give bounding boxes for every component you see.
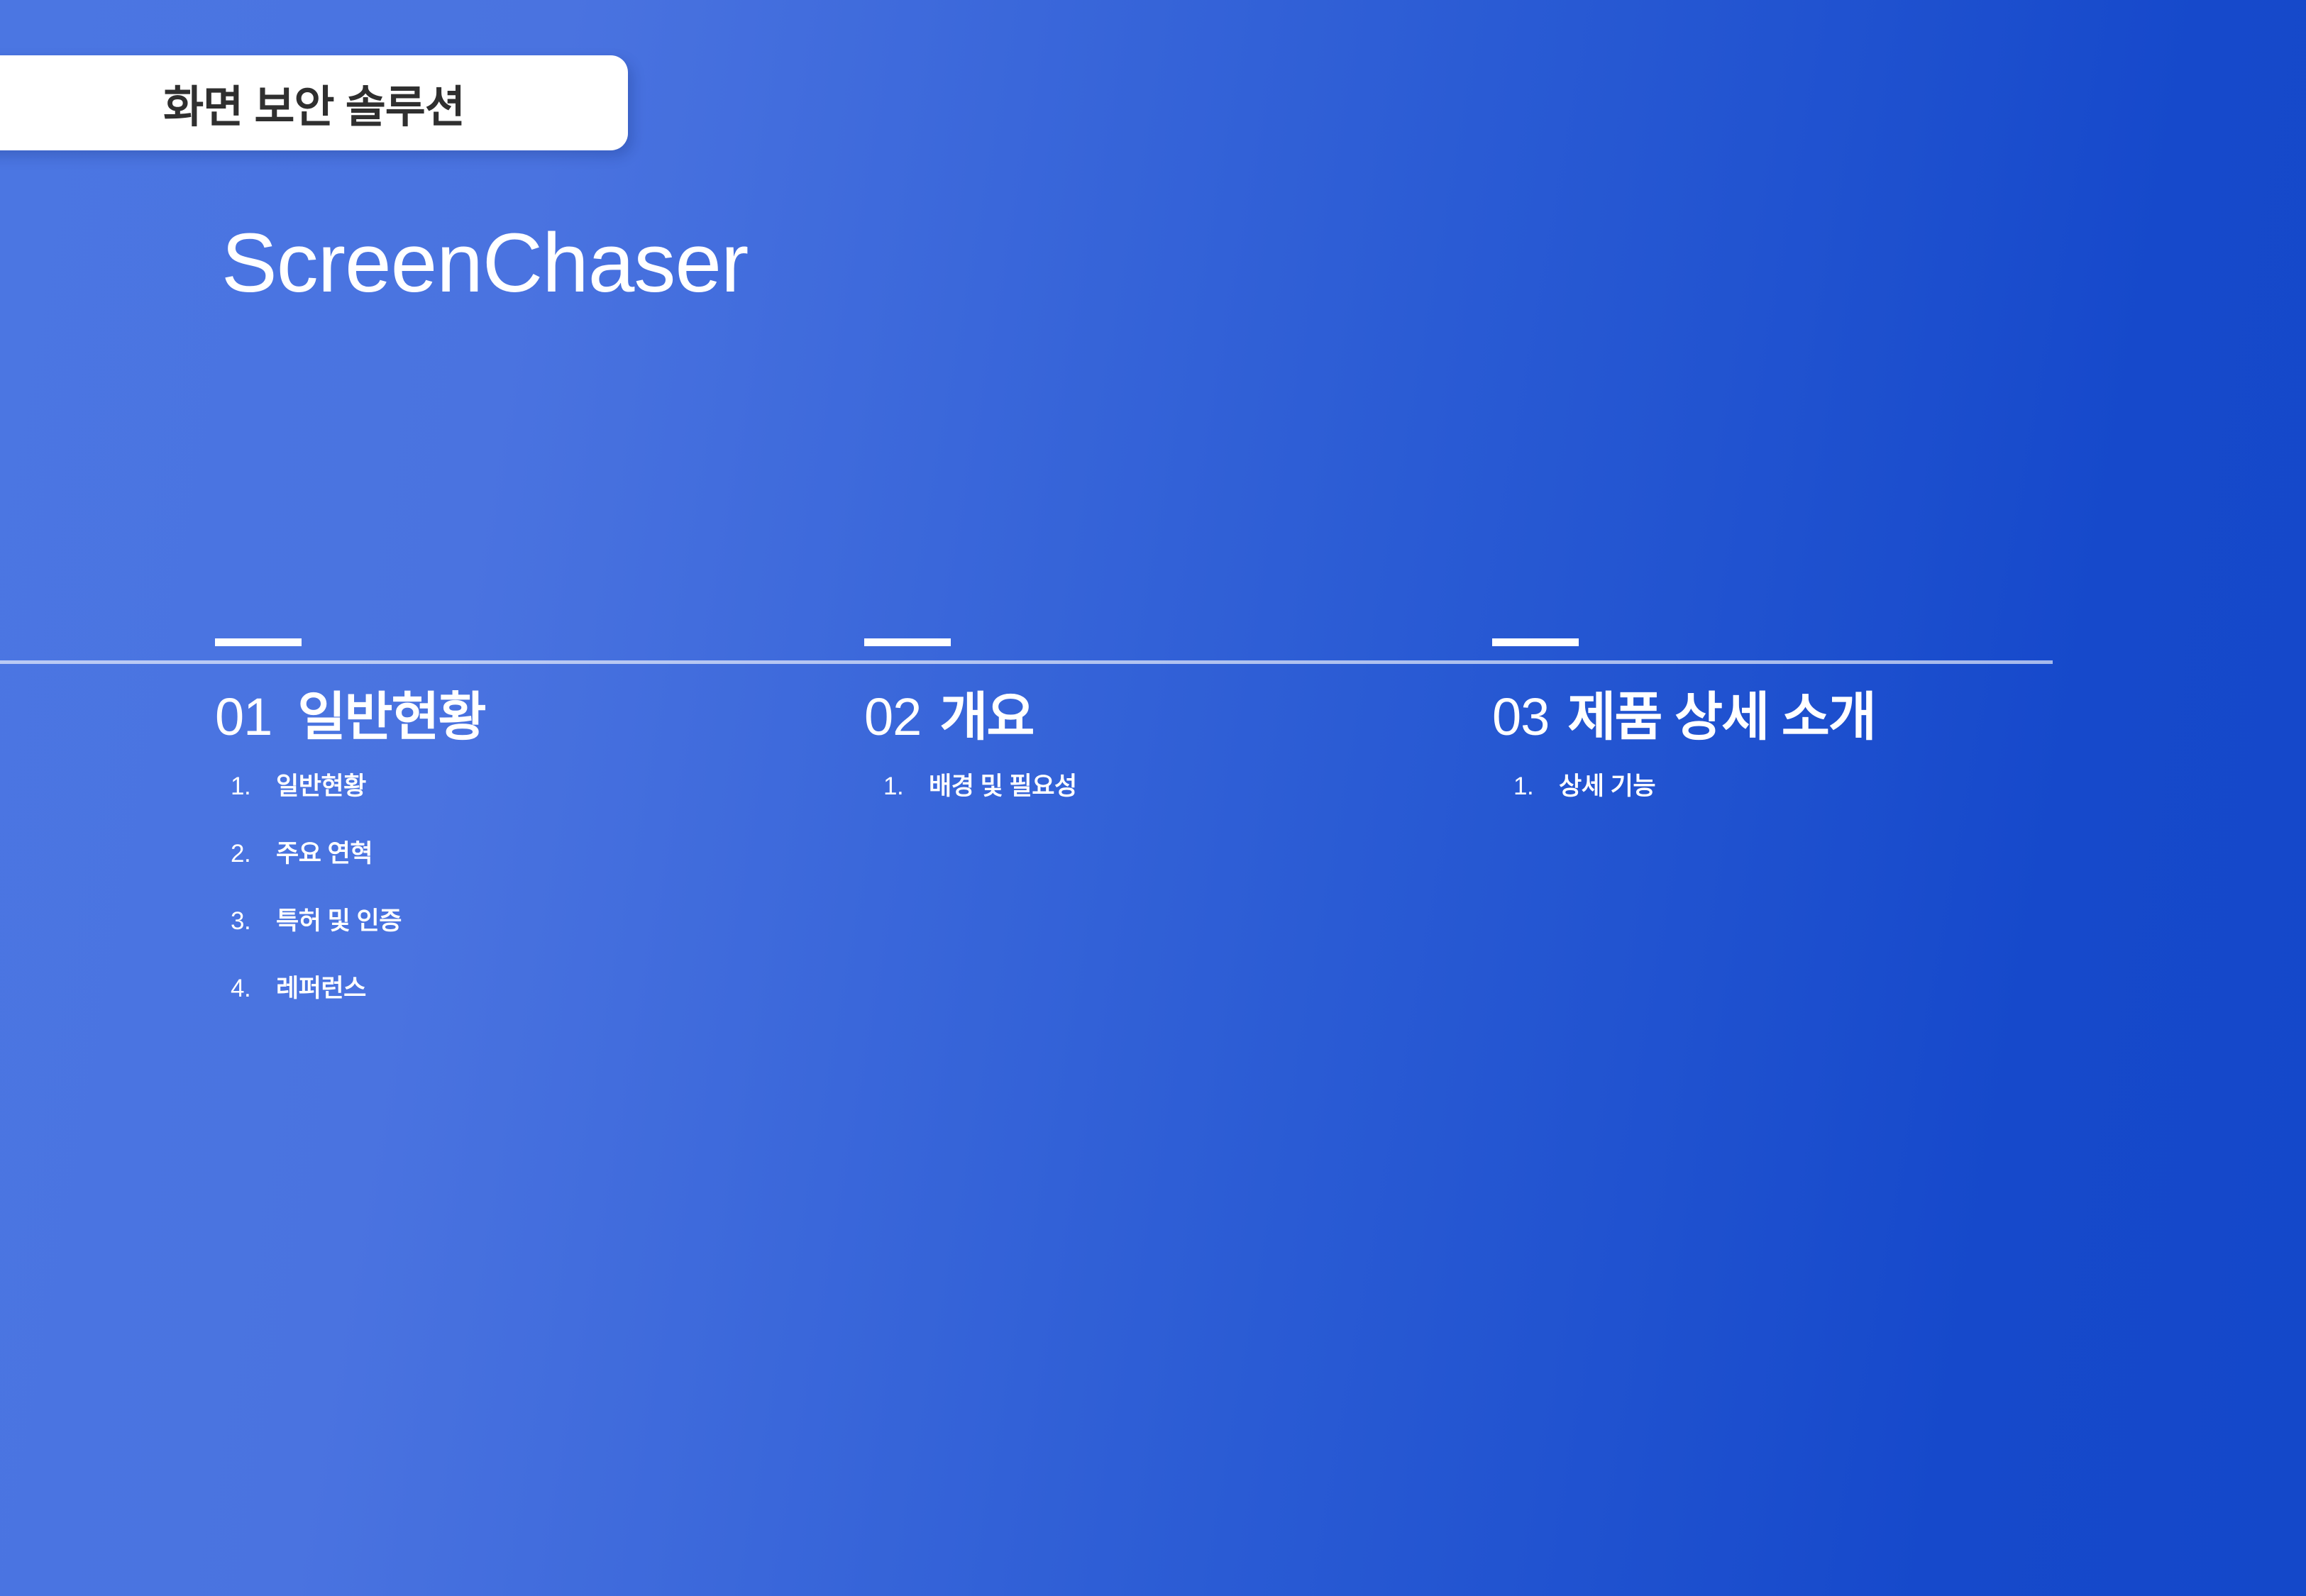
list-item-index: 4.	[231, 975, 276, 1003]
agenda-column-01-title: 일반현황	[297, 675, 485, 750]
agenda-column-03-header: 03 제품 상세 소개	[1492, 675, 1875, 750]
tick-marker-icon	[1492, 638, 1579, 646]
list-item[interactable]: 3. 특허 및 인증	[231, 901, 485, 937]
agenda-column-03: 03 제품 상세 소개 1. 상세 기능	[1492, 638, 1875, 833]
list-item[interactable]: 1. 상세 기능	[1513, 766, 1875, 802]
list-item-label: 상세 기능	[1559, 766, 1655, 802]
page-title: ScreenChaser	[221, 218, 748, 310]
agenda-column-03-list: 1. 상세 기능	[1492, 766, 1875, 802]
category-badge-label: 화면 보안 솔루션	[163, 71, 465, 135]
agenda-column-01-header: 01 일반현황	[215, 675, 485, 750]
tick-marker-icon	[864, 638, 951, 646]
agenda-column-02-list: 1. 배경 및 필요성	[864, 766, 1077, 802]
agenda-column-02-header: 02 개요	[864, 675, 1077, 750]
list-item-index: 1.	[883, 772, 929, 801]
tick-marker-icon	[215, 638, 302, 646]
list-item-index: 1.	[231, 772, 276, 801]
list-item[interactable]: 1. 배경 및 필요성	[883, 766, 1077, 802]
agenda-column-01: 01 일반현황 1. 일반현황 2. 주요 연혁 3. 특허 및 인증 4.	[215, 638, 485, 1036]
list-item-label: 일반현황	[276, 766, 366, 802]
agenda-column-03-title: 제품 상세 소개	[1567, 675, 1875, 750]
list-item-label: 레퍼런스	[276, 968, 366, 1004]
agenda-column-02: 02 개요 1. 배경 및 필요성	[864, 638, 1077, 833]
list-item-label: 주요 연혁	[276, 833, 373, 870]
list-item-index: 1.	[1513, 772, 1559, 801]
list-item[interactable]: 2. 주요 연혁	[231, 833, 485, 870]
list-item-index: 2.	[231, 840, 276, 868]
agenda-section: 01 일반현황 1. 일반현황 2. 주요 연혁 3. 특허 및 인증 4.	[0, 638, 2306, 1135]
agenda-column-02-number: 02	[864, 687, 921, 747]
presentation-slide: 화면 보안 솔루션 ScreenChaser 01 일반현황 1. 일반현황 2…	[0, 0, 2306, 1596]
agenda-column-02-title: 개요	[939, 675, 1033, 750]
list-item-label: 특허 및 인증	[276, 901, 402, 937]
list-item-index: 3.	[231, 907, 276, 936]
list-item[interactable]: 4. 레퍼런스	[231, 968, 485, 1004]
agenda-column-01-list: 1. 일반현황 2. 주요 연혁 3. 특허 및 인증 4. 레퍼런스	[215, 766, 485, 1004]
agenda-column-01-number: 01	[215, 687, 272, 747]
agenda-column-03-number: 03	[1492, 687, 1549, 747]
list-item[interactable]: 1. 일반현황	[231, 766, 485, 802]
category-badge: 화면 보안 솔루션	[0, 55, 628, 150]
list-item-label: 배경 및 필요성	[929, 766, 1077, 802]
